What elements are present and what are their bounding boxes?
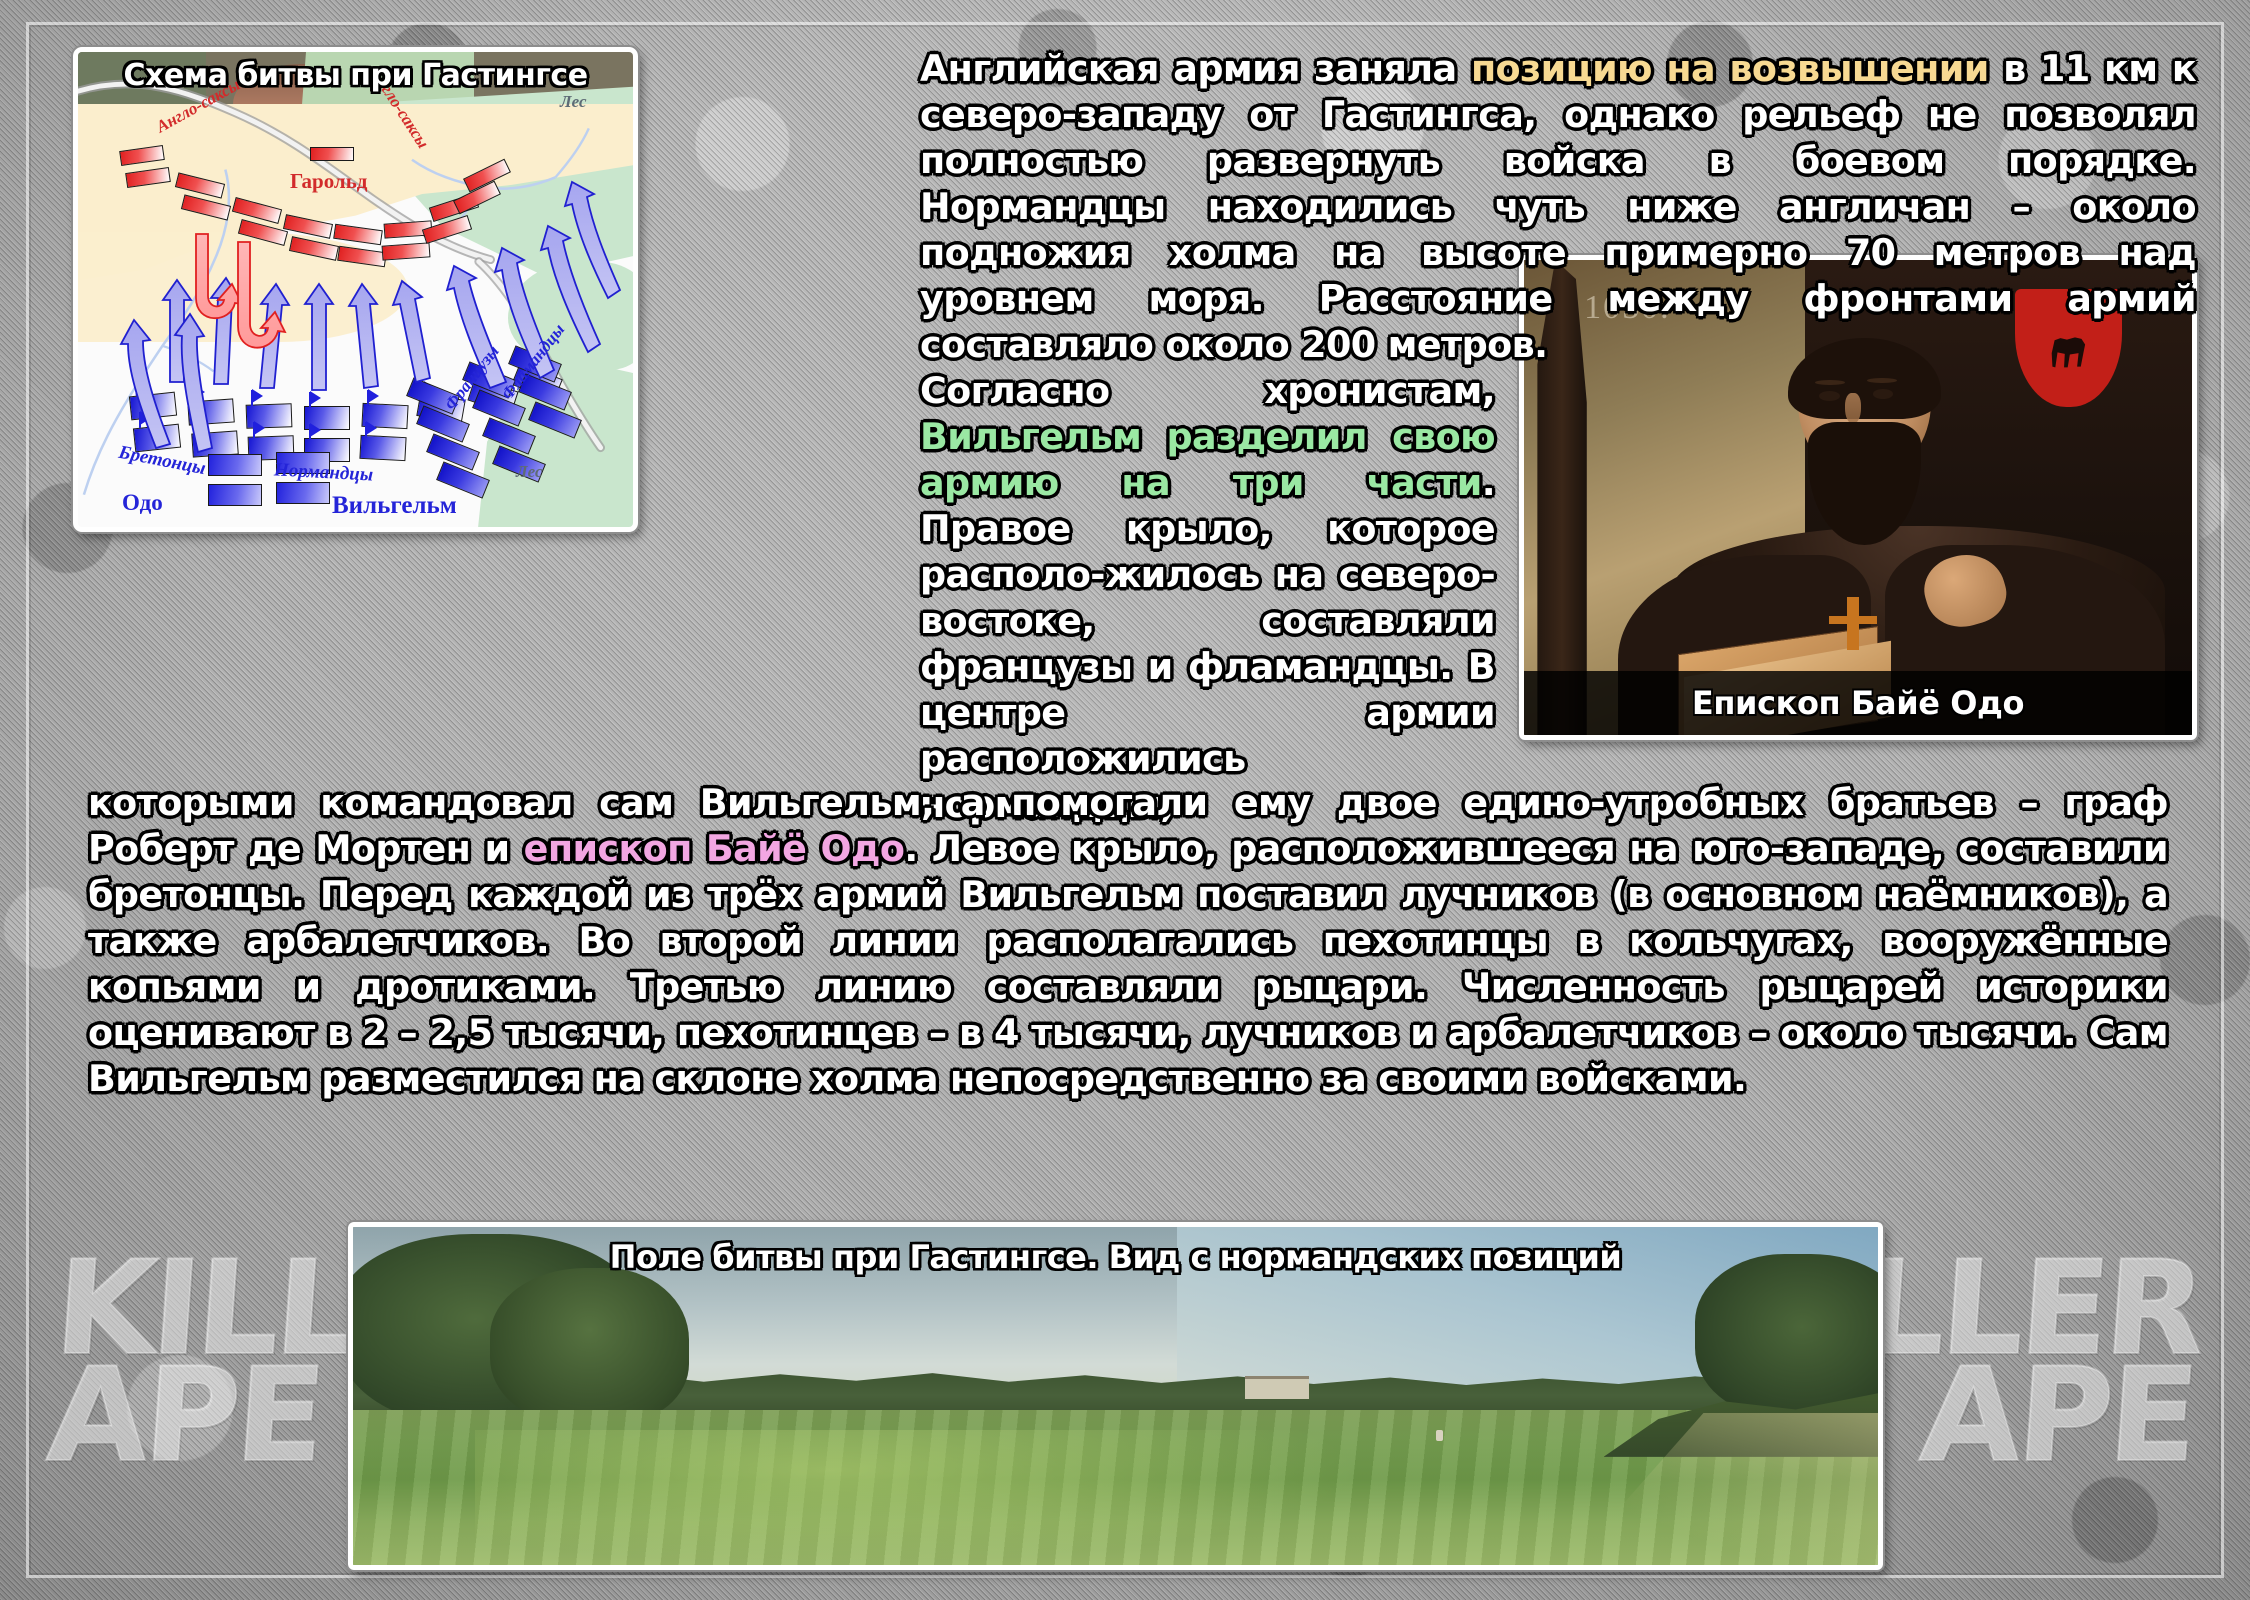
text-run-plain: Английская армия заняла	[920, 47, 1471, 90]
portrait-brow-right	[1867, 378, 1896, 383]
map-title: Схема битвы при Гастингсе	[78, 58, 633, 93]
portrait-nose	[1845, 393, 1861, 424]
text-run-plain: . Правое крыло, которое располо-жилось н…	[920, 461, 1495, 826]
map-label-harold: Гарольд	[290, 169, 367, 194]
paragraph-full-width: которыми командовал сам Вильгельм, а пом…	[88, 780, 2168, 1102]
map-label-forest-top: Лес	[560, 92, 587, 112]
paragraph-middle: Согласно хронистам, Вильгельм разделил с…	[920, 368, 1495, 828]
battlefield-photo-caption: Поле битвы при Гастингсе. Вид с нормандс…	[353, 1227, 1878, 1287]
map-canvas: Схема битвы при Гастингсе Англо-саксы Ан…	[78, 52, 633, 527]
text-run-yellow: позицию на возвышении	[1471, 47, 1989, 90]
photo-tree-left-2	[490, 1268, 688, 1423]
text-run-plain: в 11 км к северо-западу от Гастингса, од…	[920, 47, 2196, 366]
bishop-portrait-caption: Епископ Байё Одо	[1524, 671, 2192, 735]
map-label-forest-bottom: Лес	[516, 462, 543, 482]
paragraph-top: Английская армия заняла позицию на возвы…	[920, 46, 2196, 368]
text-run-pink: епископ Байё Одо	[524, 827, 905, 870]
battle-map-panel: Схема битвы при Гастингсе Англо-саксы Ан…	[73, 47, 638, 532]
portrait-brow-left	[1815, 380, 1844, 385]
map-label-odo: Одо	[122, 490, 163, 516]
text-run-green: Вильгельм разделил свою армию на три час…	[920, 415, 1495, 504]
portrait-eye-left	[1819, 391, 1840, 401]
photo-building	[1245, 1376, 1309, 1400]
battlefield-photo-frame: Поле битвы при Гастингсе. Вид с нормандс…	[348, 1222, 1883, 1570]
photo-person	[1436, 1430, 1444, 1441]
photo-grass-highlight	[475, 1430, 1360, 1565]
text-run-plain: Согласно хронистам,	[920, 369, 1495, 412]
map-label-william: Вильгельм	[332, 492, 457, 520]
portrait-cross-horizontal	[1829, 616, 1877, 624]
